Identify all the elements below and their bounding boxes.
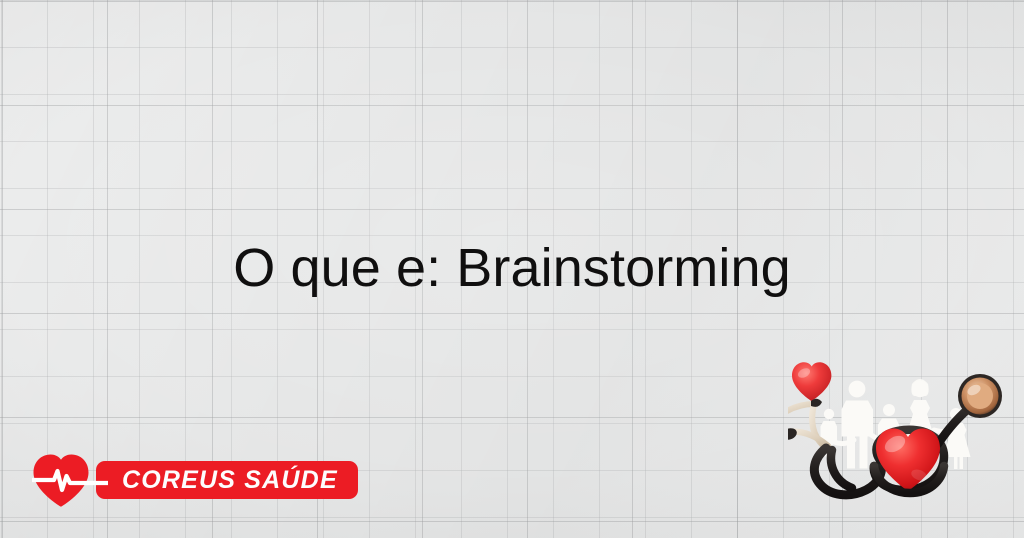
stethoscope-heart-family-illustration — [788, 348, 1024, 538]
heart-pulse-icon — [30, 452, 110, 508]
chest-piece-icon — [958, 374, 1002, 418]
brand-name-label: COREUS SAÚDE — [122, 468, 338, 493]
brand-logo[interactable]: COREUS SAÚDE — [30, 452, 358, 508]
small-heart-icon — [792, 362, 831, 401]
page-title: O que e: Brainstorming — [0, 238, 1024, 298]
brand-name-pill: COREUS SAÚDE — [96, 461, 358, 499]
slide-canvas: O que e: Brainstorming COREUS SAÚDE — [0, 0, 1024, 538]
